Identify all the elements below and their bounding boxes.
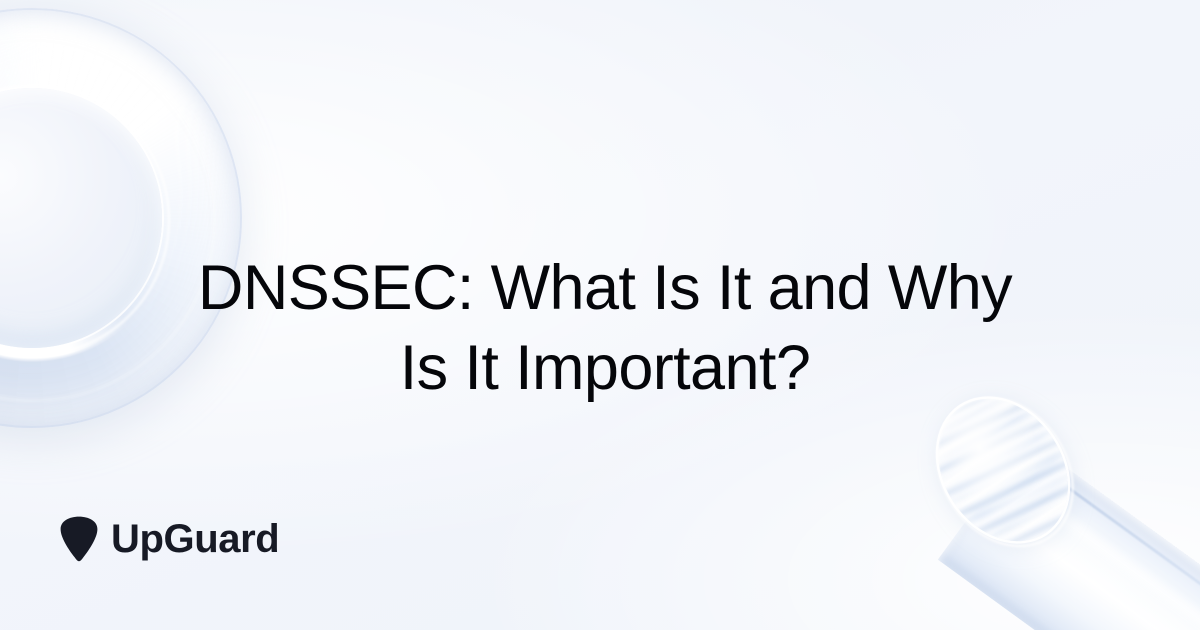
- brand-logo[interactable]: UpGuard: [60, 516, 279, 562]
- page-title: DNSSEC: What Is It and Why Is It Importa…: [150, 248, 1060, 408]
- upguard-pick-shield-icon: [60, 516, 98, 562]
- brand-wordmark: UpGuard: [111, 519, 279, 559]
- og-share-card: DNSSEC: What Is It and Why Is It Importa…: [0, 0, 1200, 630]
